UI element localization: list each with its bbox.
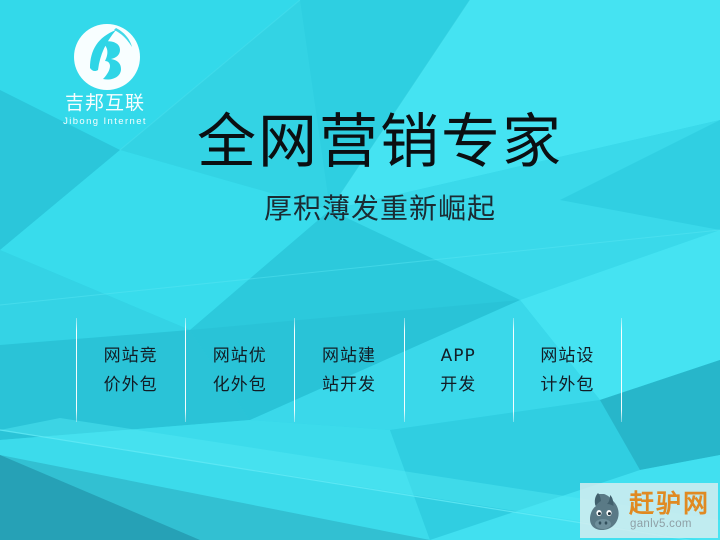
service-item-website-design-outsourcing[interactable]: 网站设 计外包: [513, 318, 622, 422]
page-subtitle: 厚积薄发重新崛起: [120, 192, 640, 226]
service-label-line1: APP: [441, 347, 476, 365]
service-item-website-bidding-outsourcing[interactable]: 网站竞 价外包: [76, 318, 185, 422]
service-label-line1: 网站优: [213, 347, 267, 365]
watermark-brand: 赶驴网: [629, 490, 710, 518]
service-label-line2: 站开发: [322, 376, 376, 394]
service-label-line2: 开发: [440, 376, 476, 394]
service-list: 网站竞 价外包 网站优 化外包 网站建 站开发 APP 开发 网站设 计外包: [76, 318, 622, 422]
circular-b-emblem-icon: [72, 22, 142, 92]
watermark: 赶驴网 ganlv5.com: [580, 483, 718, 538]
poster-canvas: 吉邦互联 Jibong Internet 全网营销专家 厚积薄发重新崛起 网站竞…: [0, 0, 720, 540]
service-label-line1: 网站建: [322, 347, 376, 365]
service-label-line1: 网站竞: [104, 347, 158, 365]
watermark-url: ganlv5.com: [630, 518, 692, 531]
service-label-line2: 化外包: [213, 376, 267, 394]
headline-block: 全网营销专家 厚积薄发重新崛起: [120, 108, 640, 226]
service-divider: [621, 318, 622, 422]
service-item-app-development[interactable]: APP 开发: [404, 318, 513, 422]
donkey-head-icon: [583, 488, 629, 534]
service-label-line2: 价外包: [104, 376, 158, 394]
service-label-line2: 计外包: [540, 376, 594, 394]
service-item-website-optimization-outsourcing[interactable]: 网站优 化外包: [185, 318, 294, 422]
service-item-website-construction-development[interactable]: 网站建 站开发: [294, 318, 403, 422]
watermark-text: 赶驴网 ganlv5.com: [629, 488, 718, 534]
page-title: 全网营销专家: [120, 108, 640, 176]
service-label-line1: 网站设: [540, 347, 594, 365]
